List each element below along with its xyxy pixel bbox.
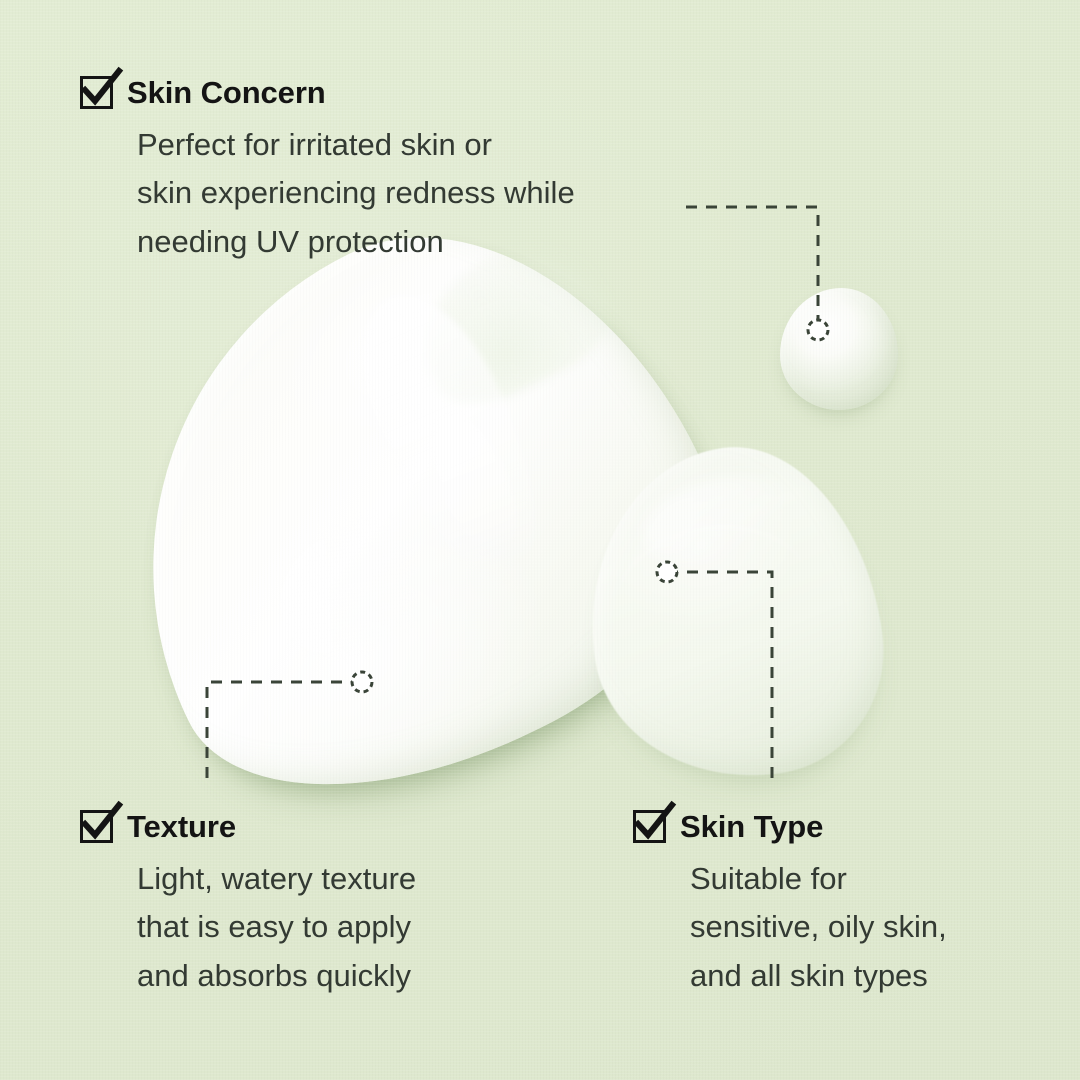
- feature-body-line: and absorbs quickly: [137, 952, 416, 1000]
- feature-body-line: Light, watery texture: [137, 855, 416, 903]
- feature-heading-row: Skin Concern: [80, 76, 575, 109]
- feature-heading-row: Texture: [80, 810, 416, 843]
- feature-body-line: and all skin types: [690, 952, 947, 1000]
- feature-skin-type: Skin Type Suitable for sensitive, oily s…: [633, 810, 947, 1000]
- feature-body-line: that is easy to apply: [137, 903, 416, 951]
- feature-title: Skin Type: [680, 811, 823, 842]
- infographic-canvas: Skin Concern Perfect for irritated skin …: [0, 0, 1080, 1080]
- feature-body-line: skin experiencing redness while: [137, 169, 575, 217]
- dashed-circle-marker-icon: [808, 320, 828, 340]
- checked-checkbox-icon: [80, 76, 113, 109]
- feature-heading-row: Skin Type: [633, 810, 947, 843]
- feature-title: Skin Concern: [127, 77, 326, 108]
- checked-checkbox-icon: [633, 810, 666, 843]
- feature-title: Texture: [127, 811, 236, 842]
- feature-body-line: Perfect for irritated skin or: [137, 121, 575, 169]
- connector-skin-type: [667, 572, 772, 786]
- checked-checkbox-icon: [80, 810, 113, 843]
- feature-body-line: needing UV protection: [137, 218, 575, 266]
- feature-body-line: Suitable for: [690, 855, 947, 903]
- feature-body: Perfect for irritated skin or skin exper…: [137, 121, 575, 266]
- feature-body: Light, watery texture that is easy to ap…: [137, 855, 416, 1000]
- feature-body: Suitable for sensitive, oily skin, and a…: [690, 855, 947, 1000]
- connector-texture: [207, 682, 362, 786]
- feature-body-line: sensitive, oily skin,: [690, 903, 947, 951]
- feature-texture: Texture Light, watery texture that is ea…: [80, 810, 416, 1000]
- dashed-circle-marker-icon: [657, 562, 677, 582]
- dashed-circle-marker-icon: [352, 672, 372, 692]
- feature-skin-concern: Skin Concern Perfect for irritated skin …: [80, 76, 575, 266]
- connector-skin-concern: [686, 207, 818, 330]
